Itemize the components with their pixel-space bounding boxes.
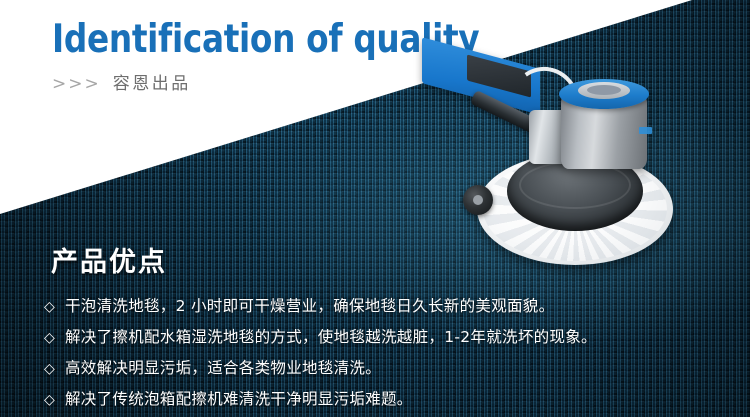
list-item: ◇ 解决了擦机配水箱湿洗地毯的方式，使地毯越洗越脏，1-2年就洗坏的现象。: [44, 325, 724, 350]
brand-subtitle: 容恩出品: [113, 69, 191, 94]
motor-cap: [578, 82, 630, 99]
diamond-bullet-icon: ◇: [44, 357, 65, 381]
benefits-list: ◇ 干泡清洗地毯，2 小时即可干燥营业，确保地毯日久长新的美观面貌。 ◇ 解决了…: [44, 294, 724, 412]
chevron-right-icon: >>>: [52, 74, 101, 94]
product-feature-banner: Identification of quality >>> 容恩出品 产品优点 …: [0, 0, 750, 417]
diamond-bullet-icon: ◇: [44, 326, 65, 350]
list-item: ◇ 干泡清洗地毯，2 小时即可干燥营业，确保地毯日久长新的美观面貌。: [44, 294, 724, 319]
list-item-label: 干泡清洗地毯，2 小时即可干燥营业，确保地毯日久长新的美观面貌。: [65, 294, 554, 318]
diamond-bullet-icon: ◇: [44, 295, 65, 319]
list-item-label: 解决了擦机配水箱湿洗地毯的方式，使地毯越洗越脏，1-2年就洗坏的现象。: [65, 325, 597, 349]
diamond-bullet-icon: ◇: [44, 388, 65, 412]
product-photo-carpet-polishing-machine: [415, 55, 705, 270]
list-item: ◇ 解决了传统泡箱配擦机难清洗干净明显污垢难题。: [44, 387, 724, 412]
list-item-label: 解决了传统泡箱配擦机难清洗干净明显污垢难题。: [65, 387, 413, 411]
transport-wheel: [463, 185, 493, 215]
benefits-section: 产品优点 ◇ 干泡清洗地毯，2 小时即可干燥营业，确保地毯日久长新的美观面貌。 …: [44, 246, 724, 417]
list-item: ◇ 高效解决明显污垢，适合各类物业地毯清洗。: [44, 356, 724, 381]
list-item-label: 高效解决明显污垢，适合各类物业地毯清洗。: [65, 356, 381, 380]
brand-badge: [639, 127, 652, 134]
benefits-heading: 产品优点: [51, 246, 724, 280]
